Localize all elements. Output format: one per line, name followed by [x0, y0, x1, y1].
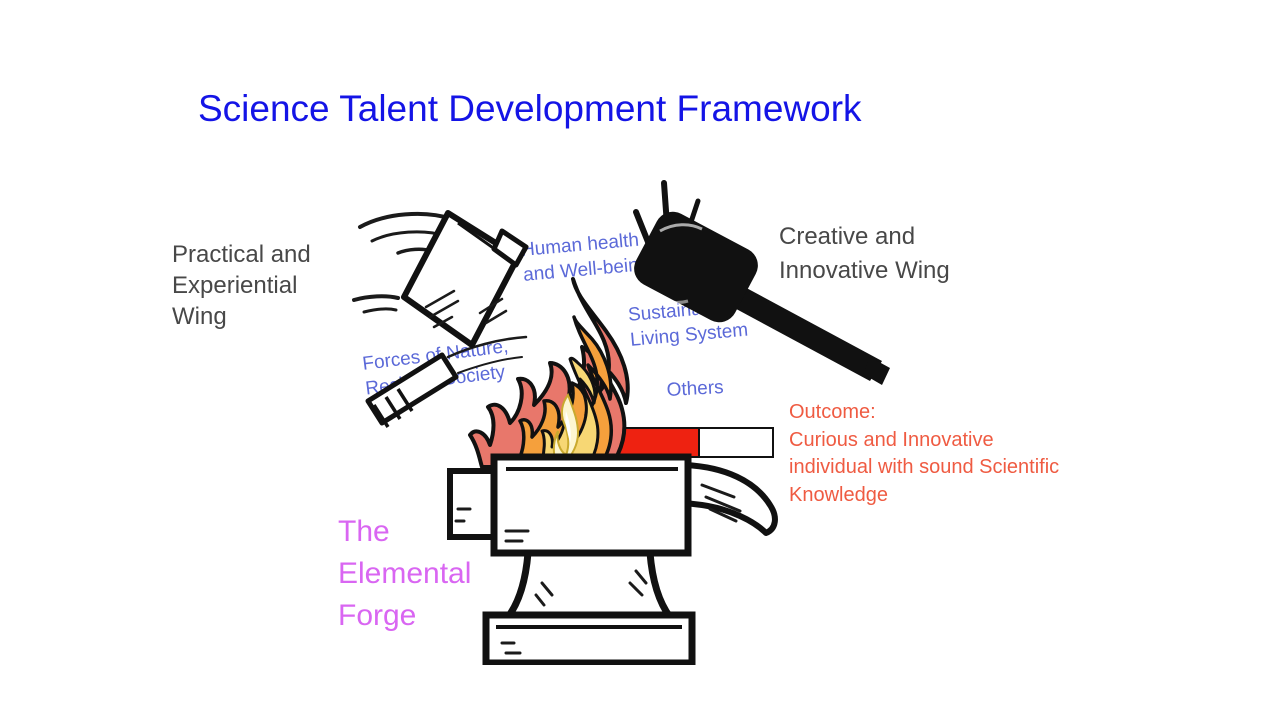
label-practical-experiential-wing: Practical and Experiential Wing [172, 239, 311, 332]
anvil-icon [450, 457, 775, 663]
sledgehammer-black-icon [628, 205, 890, 385]
page-title: Science Talent Development Framework [198, 86, 862, 132]
forge-illustration [330, 165, 930, 665]
hammer-outline-icon [368, 213, 526, 427]
slide-canvas: Science Talent Development Framework Pra… [0, 0, 1280, 720]
